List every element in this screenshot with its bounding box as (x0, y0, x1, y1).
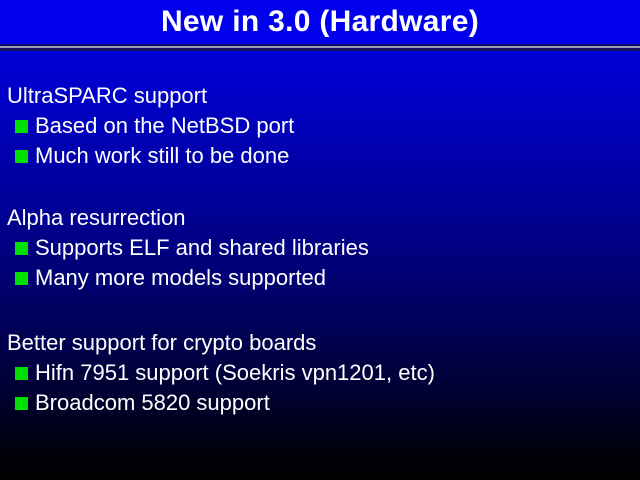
list-item-label: Much work still to be done (35, 141, 289, 171)
green-square-bullet-icon (15, 397, 28, 410)
slide-content: UltraSPARC support Based on the NetBSD p… (0, 51, 640, 480)
list-item-label: Supports ELF and shared libraries (35, 233, 369, 263)
list-item-label: Hifn 7951 support (Soekris vpn1201, etc) (35, 358, 435, 388)
slide-title-band: New in 3.0 (Hardware) (0, 0, 640, 44)
green-square-bullet-icon (15, 150, 28, 163)
list-item: Many more models supported (0, 263, 640, 293)
list-item-label: Based on the NetBSD port (35, 111, 294, 141)
list-item-label: Many more models supported (35, 263, 326, 293)
content-group-ultrasparc: UltraSPARC support Based on the NetBSD p… (0, 81, 640, 171)
list-item: Hifn 7951 support (Soekris vpn1201, etc) (0, 358, 640, 388)
content-group-alpha: Alpha resurrection Supports ELF and shar… (0, 203, 640, 293)
list-item: Much work still to be done (0, 141, 640, 171)
list-item: Supports ELF and shared libraries (0, 233, 640, 263)
list-item-label: Broadcom 5820 support (35, 388, 270, 418)
content-group-crypto: Better support for crypto boards Hifn 79… (0, 328, 640, 418)
group-heading: UltraSPARC support (0, 81, 640, 111)
page-title: New in 3.0 (Hardware) (161, 7, 479, 37)
green-square-bullet-icon (15, 272, 28, 285)
list-item: Broadcom 5820 support (0, 388, 640, 418)
group-heading: Better support for crypto boards (0, 328, 640, 358)
green-square-bullet-icon (15, 367, 28, 380)
title-divider (0, 44, 640, 51)
green-square-bullet-icon (15, 120, 28, 133)
presentation-slide: New in 3.0 (Hardware) UltraSPARC support… (0, 0, 640, 480)
green-square-bullet-icon (15, 242, 28, 255)
group-heading: Alpha resurrection (0, 203, 640, 233)
list-item: Based on the NetBSD port (0, 111, 640, 141)
